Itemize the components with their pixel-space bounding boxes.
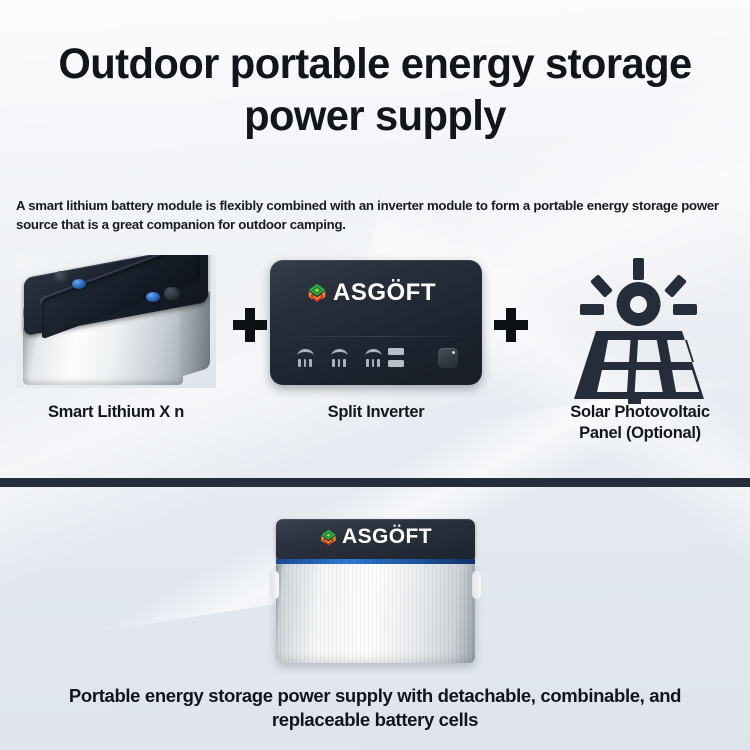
product-cell-solar: Solar Photovoltaic Panel (Optional)	[530, 250, 750, 450]
unit-brand-name: ASGÖFT	[342, 527, 432, 547]
solar-panel-icon	[560, 254, 720, 404]
inverter-divider-line	[284, 336, 468, 337]
asgoft-gem-icon	[319, 528, 338, 547]
product-label-inverter: Split Inverter	[270, 402, 482, 423]
section-divider	[0, 478, 750, 487]
unit-body-panel	[276, 564, 475, 663]
plus-icon-second	[494, 308, 528, 342]
product-label-battery: Smart Lithium X n	[0, 402, 232, 423]
unit-side-notch-left	[270, 571, 279, 599]
battery-terminal-cap-positive	[72, 279, 86, 289]
page-title: Outdoor portable energy storage power su…	[11, 38, 739, 142]
product-cell-inverter: ASGÖFT Split Inverter	[270, 250, 482, 450]
product-label-solar: Solar Photovoltaic Panel (Optional)	[530, 402, 750, 444]
unit-brand-logo: ASGÖFT	[276, 527, 475, 547]
inverter-brand-logo: ASGÖFT	[306, 282, 436, 304]
unit-side-notch-right	[472, 571, 481, 599]
split-inverter-image: ASGÖFT	[270, 260, 482, 385]
inverter-port-group	[296, 349, 383, 367]
inverter-power-button[interactable]	[438, 348, 458, 368]
inverter-brand-name: ASGÖFT	[333, 282, 436, 304]
page-background: Outdoor portable energy storage power su…	[0, 0, 750, 750]
battery-terminal-cap-negative	[146, 292, 160, 302]
inverter-socket-icon	[330, 349, 349, 367]
inverter-slot-group	[388, 348, 404, 367]
product-row: Smart Lithium X n ASGÖFT	[0, 250, 750, 450]
battery-terminal-knob-second	[164, 287, 180, 300]
asgoft-gem-icon	[306, 282, 328, 304]
plus-icon-first	[233, 308, 267, 342]
showcase-caption: Portable energy storage power supply wit…	[30, 684, 720, 732]
portable-energy-storage-unit-image: ASGÖFT	[268, 519, 483, 667]
inverter-socket-icon	[296, 349, 315, 367]
smart-lithium-battery-image	[16, 255, 216, 388]
battery-terminal-knob	[54, 271, 70, 284]
unit-top-cover: ASGÖFT	[276, 519, 475, 559]
inverter-socket-icon	[364, 349, 383, 367]
intro-paragraph: A smart lithium battery module is flexib…	[16, 196, 740, 234]
product-cell-battery: Smart Lithium X n	[0, 250, 232, 450]
